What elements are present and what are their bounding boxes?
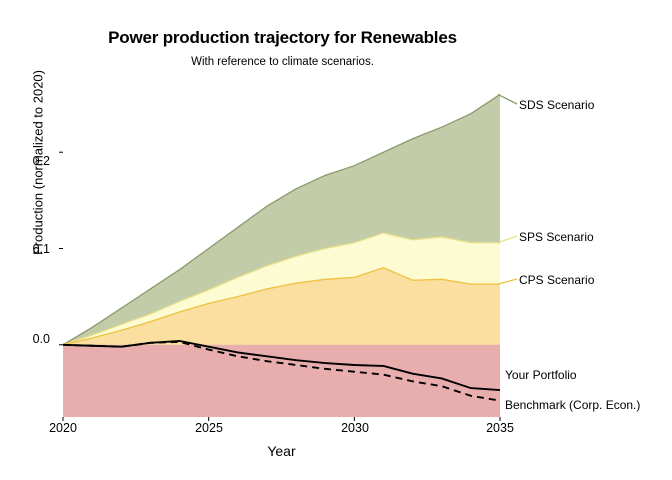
leader-line-cps <box>498 279 517 284</box>
annotation-cps-scenario: CPS Scenario <box>519 274 594 286</box>
area-baseline-band <box>63 345 500 417</box>
annotation-sds-scenario: SDS Scenario <box>519 99 594 111</box>
chart-container: Power production trajectory for Renewabl… <box>0 0 672 480</box>
leader-line-sds <box>498 94 517 104</box>
annotation-your-portfolio: Your Portfolio <box>505 369 577 381</box>
annotation-benchmark: Benchmark (Corp. Econ.) <box>505 399 640 411</box>
leader-line-sps <box>498 236 517 243</box>
annotation-sps-scenario: SPS Scenario <box>519 231 594 243</box>
